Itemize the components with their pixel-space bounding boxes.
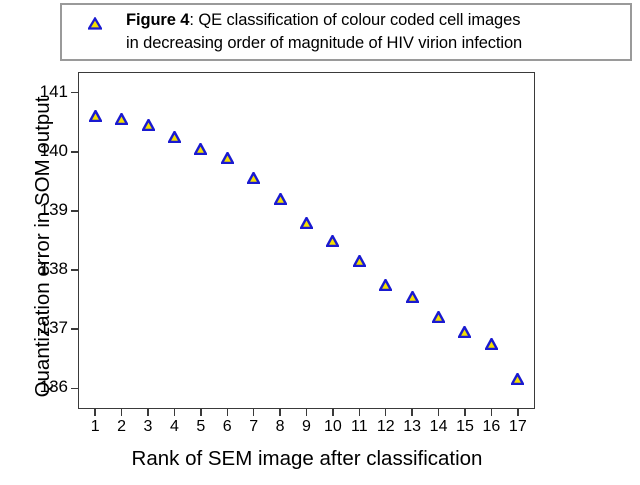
y-tick-label: 140	[28, 141, 68, 161]
x-tick-mark	[438, 409, 440, 416]
y-tick-label: 141	[28, 82, 68, 102]
x-tick-mark	[306, 409, 308, 416]
y-axis-title: Quantization error in SOM output	[31, 67, 55, 427]
x-tick-mark	[200, 409, 202, 416]
figure-caption-line2: in decreasing order of magnitude of HIV …	[126, 34, 522, 52]
data-point-marker	[353, 255, 366, 267]
x-tick-mark	[227, 409, 229, 416]
y-tick-label: 137	[28, 318, 68, 338]
data-point-marker	[406, 291, 419, 303]
figure-caption-bold-prefix: Figure 4	[126, 11, 189, 29]
data-point-marker	[485, 338, 498, 350]
data-point-marker	[142, 119, 155, 131]
y-tick-mark	[71, 269, 78, 271]
x-tick-mark	[94, 409, 96, 416]
y-tick-label: 138	[28, 259, 68, 279]
y-tick-label: 136	[28, 377, 68, 397]
data-point-marker	[379, 279, 392, 291]
data-point-marker	[326, 235, 339, 247]
data-point-marker	[194, 143, 207, 155]
x-tick-label: 17	[503, 418, 533, 436]
x-tick-mark	[385, 409, 387, 416]
x-axis-title: Rank of SEM image after classification	[78, 447, 536, 471]
data-point-marker	[115, 113, 128, 125]
data-point-marker	[432, 311, 445, 323]
data-point-marker	[274, 193, 287, 205]
figure-caption-box: Figure 4: QE classification of colour co…	[60, 3, 632, 61]
x-tick-mark	[491, 409, 493, 416]
y-tick-mark	[71, 388, 78, 390]
data-point-marker	[511, 373, 524, 385]
legend-triangle-marker-icon	[88, 17, 102, 30]
x-tick-mark	[121, 409, 123, 416]
data-point-marker	[300, 217, 313, 229]
chart-figure: Figure 4: QE classification of colour co…	[0, 0, 640, 485]
y-tick-mark	[71, 151, 78, 153]
x-tick-mark	[411, 409, 413, 416]
data-point-marker	[221, 152, 234, 164]
y-tick-mark	[71, 210, 78, 212]
data-point-marker	[458, 326, 471, 338]
x-tick-mark	[253, 409, 255, 416]
figure-caption-text: Figure 4: QE classification of colour co…	[126, 9, 624, 55]
x-tick-mark	[332, 409, 334, 416]
y-tick-mark	[71, 328, 78, 330]
x-tick-mark	[147, 409, 149, 416]
x-tick-mark	[517, 409, 519, 416]
data-point-marker	[89, 110, 102, 122]
y-tick-label: 139	[28, 200, 68, 220]
y-tick-mark	[71, 92, 78, 94]
x-tick-mark	[174, 409, 176, 416]
data-point-marker	[247, 172, 260, 184]
data-point-marker	[168, 131, 181, 143]
figure-caption-line1: : QE classification of colour coded cell…	[189, 11, 520, 29]
x-tick-mark	[464, 409, 466, 416]
x-tick-mark	[279, 409, 281, 416]
x-tick-mark	[359, 409, 361, 416]
